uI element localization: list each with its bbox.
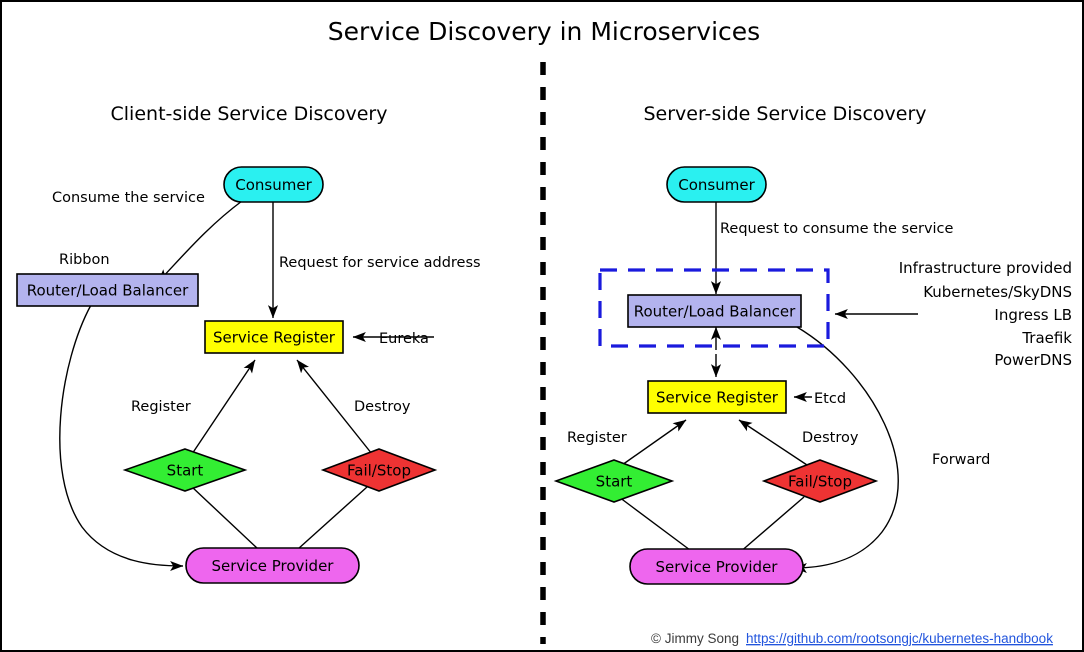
left-panel-heading: Client-side Service Discovery	[111, 103, 388, 125]
edge-label-register-right: Register	[567, 430, 627, 446]
edge-start-to-register-left	[192, 360, 255, 454]
edge-label-ribbon: Ribbon	[59, 252, 110, 268]
node-consumer-right-label: Consumer	[678, 176, 755, 194]
edge-label-destroy-left: Destroy	[354, 399, 411, 415]
edge-fail-to-register-right	[739, 420, 807, 465]
infrastructure-item-2: Ingress LB	[994, 306, 1072, 324]
node-router-right-label: Router/Load Balancer	[634, 303, 796, 321]
node-provider-left-label: Service Provider	[212, 557, 335, 575]
diagram-svg: Service Discovery in Microservices Clien…	[2, 2, 1084, 652]
infrastructure-item-3: Traefik	[1021, 329, 1072, 347]
edge-start-to-register-right	[622, 420, 686, 465]
node-start-right-label: Start	[596, 473, 633, 491]
edge-label-request-service-address: Request for service address	[279, 255, 481, 271]
node-provider-right-label: Service Provider	[656, 558, 779, 576]
edge-label-consume-service: Consume the service	[52, 190, 205, 206]
diagram-canvas: Service Discovery in Microservices Clien…	[0, 0, 1084, 652]
node-router-left-label: Router/Load Balancer	[27, 282, 189, 300]
right-panel-heading: Server-side Service Discovery	[643, 103, 926, 125]
edge-label-destroy-right: Destroy	[802, 430, 859, 446]
edge-label-etcd: Etcd	[814, 391, 846, 407]
edge-router-to-provider-left	[60, 305, 183, 566]
infrastructure-item-4: PowerDNS	[994, 351, 1072, 369]
edge-provider-to-start-left	[192, 487, 258, 549]
edge-label-request-consume: Request to consume the service	[720, 221, 954, 237]
edge-provider-to-start-right	[619, 497, 694, 553]
infrastructure-item-1: Kubernetes/SkyDNS	[923, 283, 1072, 301]
footer-credit: © Jimmy Song	[651, 631, 739, 646]
edge-provider-to-fail-right	[739, 497, 804, 553]
node-consumer-left-label: Consumer	[235, 176, 312, 194]
edge-label-eureka: Eureka	[379, 331, 429, 347]
node-start-left-label: Start	[167, 462, 204, 480]
page-title: Service Discovery in Microservices	[328, 17, 760, 46]
edge-provider-to-fail-left	[298, 487, 367, 549]
infrastructure-item-0: Infrastructure provided	[899, 259, 1072, 277]
edge-router-to-provider-right	[794, 327, 898, 568]
edge-consumer-to-router-left	[158, 201, 242, 282]
edge-label-register-left: Register	[131, 399, 191, 415]
edge-label-forward: Forward	[932, 452, 990, 468]
node-register-left-label: Service Register	[213, 329, 336, 347]
footer-url-link[interactable]: https://github.com/rootsongjc/kubernetes…	[746, 631, 1053, 646]
node-register-right-label: Service Register	[656, 389, 779, 407]
node-fail-left-label: Fail/Stop	[347, 462, 411, 480]
node-fail-right-label: Fail/Stop	[788, 473, 852, 491]
